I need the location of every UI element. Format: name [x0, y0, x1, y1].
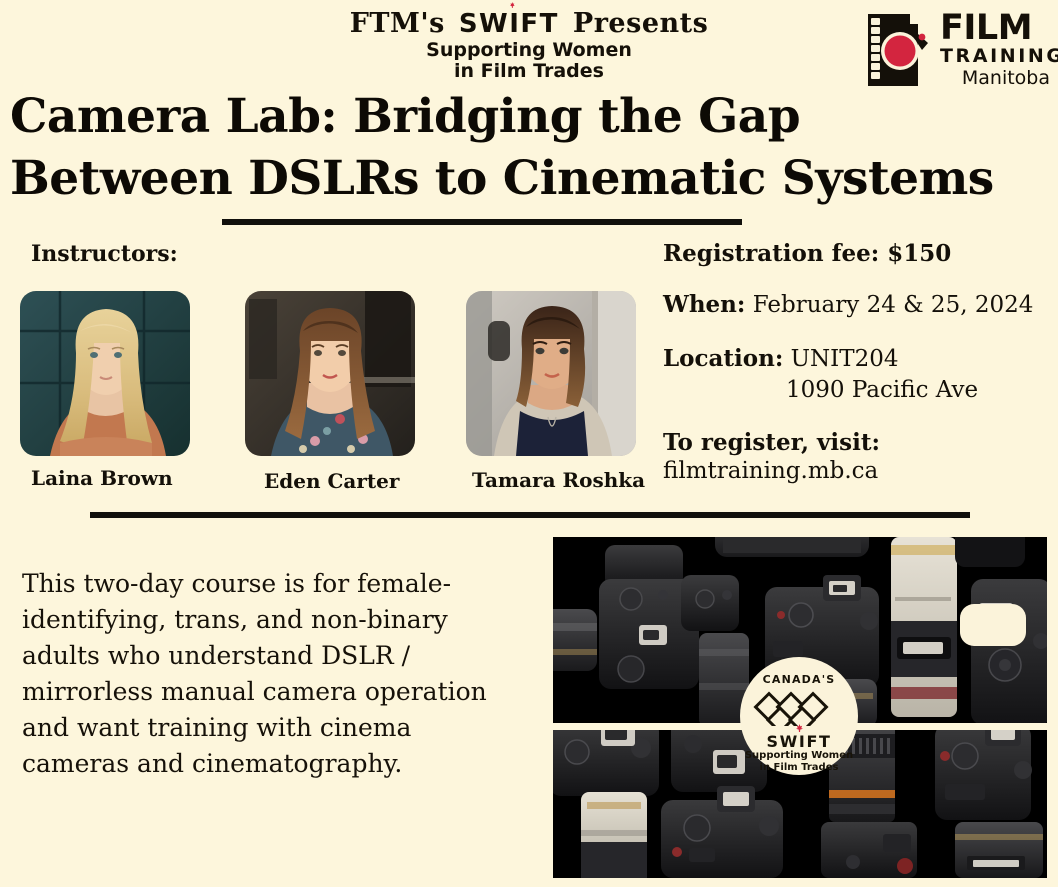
badge-tagline-line1: Supporting Women: [740, 750, 858, 762]
register-url[interactable]: filmtraining.mb.ca: [663, 457, 1053, 486]
location-line2: 1090 Pacific Ave: [663, 375, 1053, 406]
logo-film-text: FILM: [940, 12, 1052, 45]
when-block: When: February 24 & 25, 2024: [663, 289, 1053, 321]
instructor-name-3: Tamara Roshka: [472, 468, 645, 492]
page-title-line1: Camera Lab: Bridging the Gap: [10, 86, 1010, 148]
register-label: To register, visit:: [663, 428, 1053, 457]
presenter-prefix: FTM's: [350, 8, 445, 39]
page-title: Camera Lab: Bridging the Gap Between DSL…: [10, 86, 1010, 210]
presents-text: Presents: [573, 8, 708, 39]
swift-wordmark-text: SWIFT: [459, 9, 559, 39]
when-row: When: February 24 & 25, 2024: [663, 289, 1053, 321]
instructor-photo-tamara-roshka: [466, 291, 636, 456]
registration-fee: Registration fee: $150: [663, 240, 1053, 267]
manitoba-film-reel-icon: [862, 10, 934, 90]
instructors-label: Instructors:: [31, 241, 178, 267]
maple-leaf-icon: [510, 2, 515, 8]
badge-canadas-text: CANADA'S: [740, 673, 858, 686]
location-row: Location: UNIT204: [663, 343, 1053, 375]
location-block: Location: UNIT204 1090 Pacific Ave: [663, 343, 1053, 406]
when-label: When:: [663, 291, 745, 318]
section-divider: [90, 512, 970, 518]
event-details: Registration fee: $150 When: February 24…: [663, 240, 1053, 508]
instructor-photo-eden-carter: [245, 291, 415, 456]
instructor-name-2: Eden Carter: [264, 469, 399, 493]
film-training-manitoba-logo: FILM TRAINING Manitoba: [862, 10, 1052, 94]
location-line1: UNIT204: [791, 346, 899, 372]
swift-wordmark: SWIFT: [459, 9, 559, 39]
film-strip-diamonds-icon: [751, 688, 847, 726]
instructor-photo-laina-brown: [20, 291, 190, 456]
page-title-line2: Between DSLRs to Cinematic Systems: [10, 148, 1010, 210]
instructor-name-1: Laina Brown: [31, 466, 173, 490]
badge-tagline: Supporting Women in Film Trades: [740, 750, 858, 774]
badge-swift-text: SWIFT: [740, 732, 858, 751]
registration-fee-block: Registration fee: $150: [663, 240, 1053, 267]
logo-training-text: TRAINING: [940, 45, 1052, 67]
swift-circular-badge: CANADA'S: [740, 657, 858, 775]
logo-wordmark: FILM TRAINING Manitoba: [940, 12, 1052, 89]
title-divider: [222, 219, 742, 225]
photo-cream-overlay: [960, 604, 1026, 646]
register-block: To register, visit: filmtraining.mb.ca: [663, 428, 1053, 486]
location-label: Location:: [663, 345, 783, 372]
when-value: February 24 & 25, 2024: [753, 292, 1034, 318]
badge-tagline-line2: in Film Trades: [740, 762, 858, 774]
course-description: This two-day course is for female-identi…: [22, 566, 492, 782]
poster-root: FTM'sSWIFTPresents Supporting Women in F…: [0, 0, 1058, 887]
